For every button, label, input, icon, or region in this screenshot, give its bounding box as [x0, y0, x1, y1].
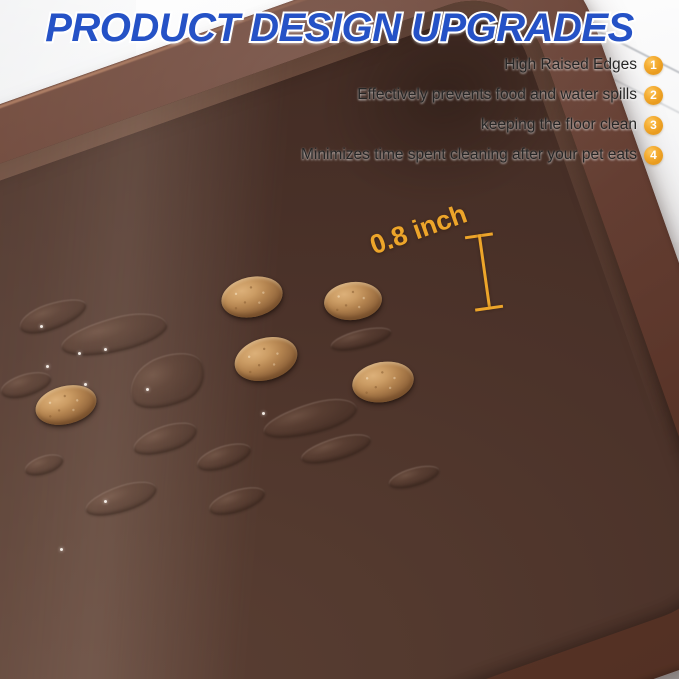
water-sparkle — [104, 348, 107, 351]
water-sparkle — [84, 383, 87, 386]
feature-number-badge: 4 — [644, 146, 663, 165]
page-title: PRODUCT DESIGN UPGRADES — [0, 6, 679, 51]
list-item: Effectively prevents food and water spil… — [103, 84, 663, 106]
feature-label: keeping the floor clean — [481, 116, 637, 134]
water-sparkle — [104, 500, 107, 503]
water-sparkle — [40, 325, 43, 328]
water-sparkle — [146, 388, 149, 391]
feature-number-badge: 2 — [644, 86, 663, 105]
water-sparkle — [262, 412, 265, 415]
feature-label: Minimizes time spent cleaning after your… — [301, 146, 637, 164]
product-marketing-image: 0.8 inch PRODUCT DESIGN UPGRADES High Ra… — [0, 0, 679, 679]
water-sparkle — [60, 548, 63, 551]
feature-label: High Raised Edges — [504, 56, 637, 74]
list-item: High Raised Edges 1 — [103, 54, 663, 76]
water-sparkle — [78, 352, 81, 355]
list-item: Minimizes time spent cleaning after your… — [103, 144, 663, 166]
dimension-stem — [477, 234, 491, 310]
feature-label: Effectively prevents food and water spil… — [357, 86, 637, 104]
feature-number-badge: 1 — [644, 56, 663, 75]
water-sparkle — [46, 365, 49, 368]
feature-list: High Raised Edges 1 Effectively prevents… — [103, 54, 663, 174]
list-item: keeping the floor clean 3 — [103, 114, 663, 136]
feature-number-badge: 3 — [644, 116, 663, 135]
